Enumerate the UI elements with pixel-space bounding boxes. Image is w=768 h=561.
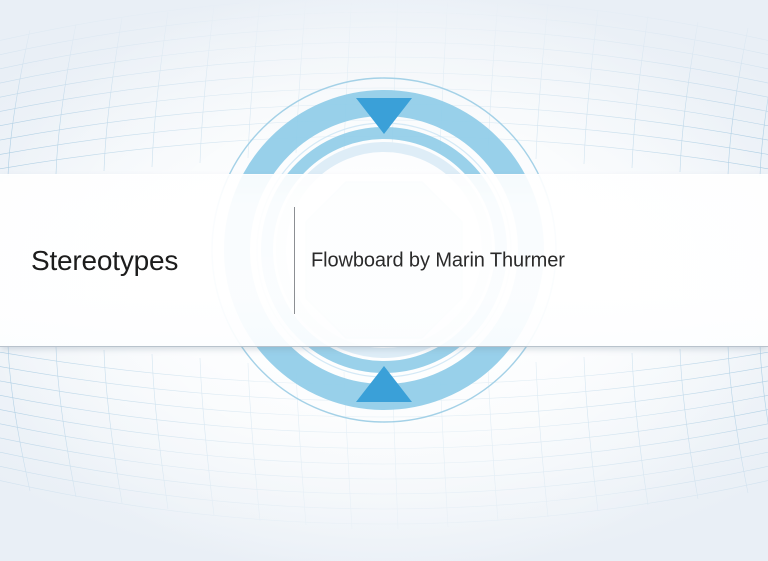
page-subtitle: Flowboard by Marin Thurmer — [311, 249, 565, 272]
presentation-slide: Stereotypes Flowboard by Marin Thurmer — [0, 0, 768, 561]
page-title: Stereotypes — [31, 245, 178, 277]
title-divider — [294, 207, 295, 314]
title-text-layer: Stereotypes Flowboard by Marin Thurmer — [0, 174, 768, 347]
